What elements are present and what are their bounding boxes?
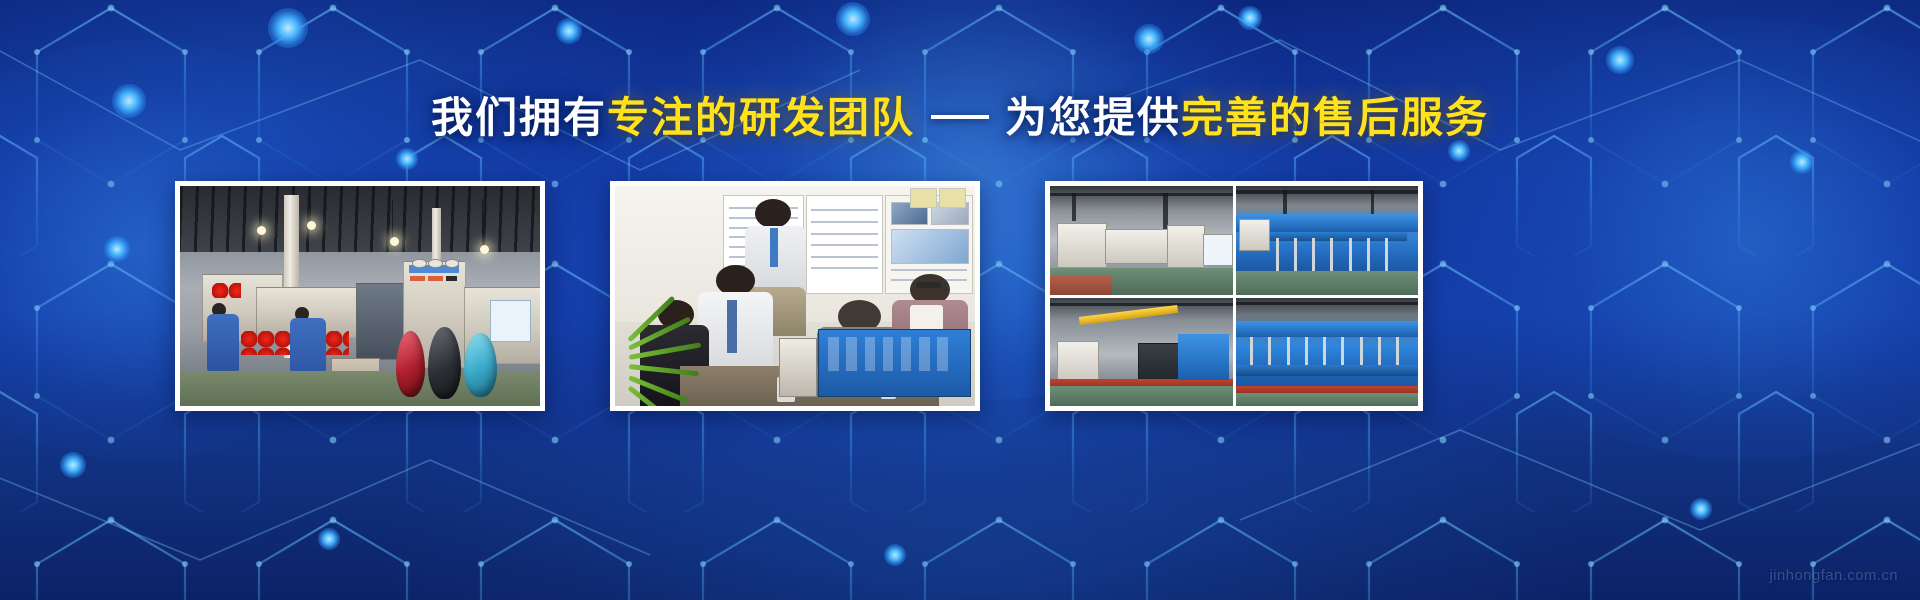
network-node-dot bbox=[60, 452, 86, 478]
network-node-dot bbox=[884, 544, 906, 566]
network-node-dot bbox=[1238, 6, 1262, 30]
network-node-dot bbox=[836, 2, 870, 36]
equipment-inset-blue bbox=[818, 329, 971, 397]
photo-production-collage[interactable] bbox=[1045, 181, 1423, 411]
headline-segment-3: 为您提供 bbox=[1005, 94, 1181, 141]
product-vase-dark bbox=[428, 327, 460, 400]
site-watermark: jinhongfan.com.cn bbox=[1769, 567, 1898, 584]
page-title: 我们拥有专注的研发团队为您提供完善的售后服务 bbox=[0, 84, 1920, 145]
photo-factory-line[interactable] bbox=[175, 181, 545, 411]
network-node-dot bbox=[268, 8, 308, 48]
product-vase-blue bbox=[464, 333, 496, 397]
photo-gallery-row bbox=[0, 181, 1920, 411]
hero-banner: 我们拥有专注的研发团队为您提供完善的售后服务 bbox=[0, 0, 1920, 600]
network-node-dot bbox=[1690, 498, 1712, 520]
headline-segment-4: 完善的售后服务 bbox=[1181, 94, 1489, 141]
headline-divider-dash bbox=[931, 115, 989, 119]
network-node-dot bbox=[556, 18, 582, 44]
network-node-dot bbox=[1606, 46, 1634, 74]
headline-segment-2: 专注的研发团队 bbox=[607, 94, 915, 141]
network-node-dot bbox=[1790, 150, 1814, 174]
network-node-dot bbox=[1134, 24, 1164, 54]
network-node-dot bbox=[318, 528, 340, 550]
product-vase-red bbox=[396, 331, 425, 397]
photo-rnd-meeting[interactable] bbox=[610, 181, 980, 411]
headline-segment-1: 我们拥有 bbox=[431, 94, 607, 141]
network-node-dot bbox=[396, 148, 418, 170]
